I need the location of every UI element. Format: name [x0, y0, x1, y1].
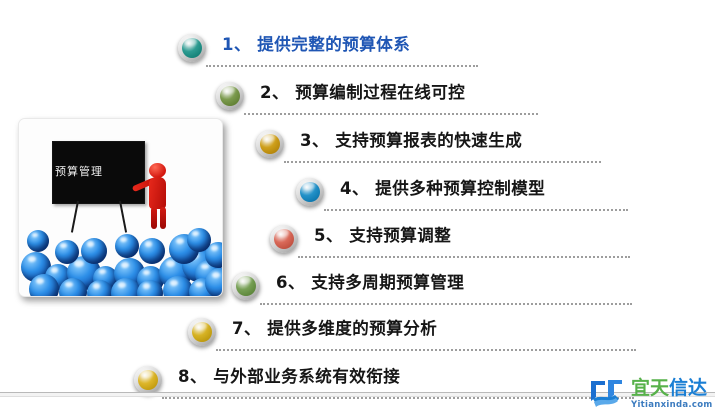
- feature-row-underline: 2、 预算编制过程在线可控: [244, 77, 538, 115]
- bullet-sphere-icon-7: [188, 318, 216, 346]
- feature-label-2: 2、 预算编制过程在线可控: [260, 85, 465, 105]
- feature-row-1[interactable]: 1、 提供完整的预算体系: [178, 28, 478, 68]
- audience-sphere: [81, 238, 107, 264]
- yitianxinda-swoosh-logo: [588, 375, 628, 413]
- feature-row-4[interactable]: 4、 提供多种预算控制模型: [296, 172, 628, 212]
- logo-wordmark: 宜天信达 Yitianxinda.com: [631, 379, 713, 410]
- feature-label-6: 6、 支持多周期预算管理: [276, 275, 464, 295]
- feature-row-underline: 4、 提供多种预算控制模型: [324, 173, 628, 211]
- logo-cn-part1: 宜天: [631, 377, 669, 399]
- feature-row-underline: 7、 提供多维度的预算分析: [216, 313, 636, 351]
- logo-cn-part2: 信达: [669, 377, 707, 399]
- feature-label-8: 8、 与外部业务系统有效衔接: [178, 369, 400, 389]
- feature-row-3[interactable]: 3、 支持预算报表的快速生成: [256, 124, 601, 164]
- blackboard-text: 预算管理: [55, 163, 145, 179]
- bullet-sphere-icon-6: [232, 272, 260, 300]
- feature-row-underline: 3、 支持预算报表的快速生成: [284, 125, 601, 163]
- bullet-sphere-icon-1: [178, 34, 206, 62]
- feature-row-7[interactable]: 7、 提供多维度的预算分析: [188, 312, 636, 352]
- audience-sphere: [187, 228, 211, 252]
- feature-row-5[interactable]: 5、 支持预算调整: [270, 219, 630, 259]
- audience-sphere: [115, 234, 139, 258]
- bullet-sphere-icon-4: [296, 178, 324, 206]
- logo-company-domain: Yitianxinda.com: [631, 400, 713, 410]
- feature-row-underline: 6、 支持多周期预算管理: [260, 267, 632, 305]
- presenter-head: [149, 163, 166, 178]
- feature-label-1: 1、 提供完整的预算体系: [222, 37, 410, 57]
- audience-sphere: [139, 238, 165, 264]
- feature-row-underline: 5、 支持预算调整: [298, 220, 630, 258]
- feature-row-underline: 1、 提供完整的预算体系: [206, 29, 478, 67]
- audience-sphere: [55, 240, 79, 264]
- feature-label-3: 3、 支持预算报表的快速生成: [300, 133, 522, 153]
- feature-row-6[interactable]: 6、 支持多周期预算管理: [232, 266, 632, 306]
- slide-canvas: 预算管理 1、 提供完整的预算体系2、 预算编制过程在线可控3、 支持预算报表的…: [0, 0, 715, 419]
- bullet-sphere-icon-8: [134, 366, 162, 394]
- bullet-sphere-icon-3: [256, 130, 284, 158]
- illustration-scene: 预算管理: [19, 119, 222, 296]
- audience-sphere: [29, 274, 59, 296]
- feature-label-7: 7、 提供多维度的预算分析: [232, 321, 437, 341]
- audience-spheres: [19, 222, 222, 296]
- feature-label-4: 4、 提供多种预算控制模型: [340, 181, 545, 201]
- company-logo: 宜天信达 Yitianxinda.com: [588, 371, 713, 417]
- bullet-sphere-icon-5: [270, 225, 298, 253]
- logo-company-name-cn: 宜天信达: [631, 379, 713, 398]
- presenter-body: [149, 177, 166, 209]
- illustration-image: 预算管理: [18, 118, 223, 297]
- feature-label-5: 5、 支持预算调整: [314, 228, 451, 248]
- audience-sphere: [27, 230, 49, 252]
- bullet-sphere-icon-2: [216, 82, 244, 110]
- feature-row-2[interactable]: 2、 预算编制过程在线可控: [216, 76, 538, 116]
